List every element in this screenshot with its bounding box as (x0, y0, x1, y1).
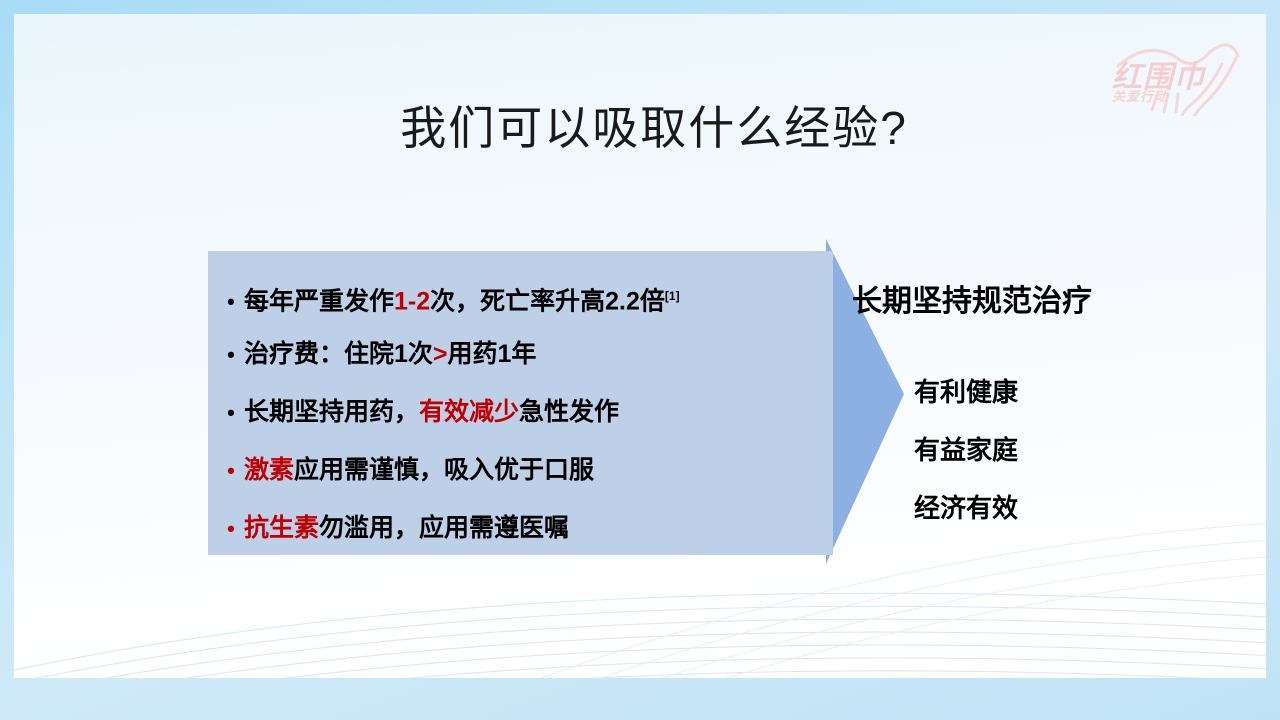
slide-canvas: 红围巾 关爱行动 我们可以吸取什么经验? •每年严重发作1-2次，死亡率升高2.… (14, 14, 1266, 678)
bullet-dot-icon: • (218, 442, 244, 500)
bullet-text: 激素应用需谨慎，吸入优于口服 (244, 441, 828, 499)
bullet-segment: 次，死亡率升高2.2倍 (430, 287, 665, 315)
slide-root: 红围巾 关爱行动 我们可以吸取什么经验? •每年严重发作1-2次，死亡率升高2.… (0, 0, 1280, 720)
conclusion-headline: 长期坚持规范治疗 (852, 276, 1092, 320)
bullet-text: 长期坚持用药，有效减少急性发作 (244, 383, 828, 441)
bullet-segment: 急性发作 (519, 398, 619, 426)
footnote-marker: [1] (665, 289, 680, 303)
conclusion-column: 长期坚持规范治疗 有利健康 有益家庭 经济有效 (852, 14, 1266, 678)
key-points-box: •每年严重发作1-2次，死亡率升高2.2倍[1]•治疗费：住院1次>用药1年•长… (208, 251, 833, 555)
bullet-segment: 每年严重发作 (244, 287, 394, 315)
bullet-item: •每年严重发作1-2次，死亡率升高2.2倍[1] (218, 267, 828, 325)
conclusion-item-1: 有益家庭 (914, 430, 1018, 467)
bullet-dot-icon: • (218, 273, 244, 331)
conclusion-item-0: 有利健康 (914, 372, 1018, 409)
bullet-segment: 应用需谨慎，吸入优于口服 (294, 456, 594, 484)
bullet-item: •长期坚持用药，有效减少急性发作 (218, 383, 828, 441)
bullet-dot-icon: • (218, 326, 244, 384)
bullet-segment: 勿滥用，应用需遵医嘱 (319, 514, 569, 542)
bullet-segment: 抗生素 (244, 514, 319, 542)
conclusion-item-2: 经济有效 (914, 488, 1018, 525)
bullet-text: 治疗费：住院1次>用药1年 (244, 325, 828, 383)
bullet-list: •每年严重发作1-2次，死亡率升高2.2倍[1]•治疗费：住院1次>用药1年•长… (218, 267, 828, 557)
bullet-segment: 激素 (244, 456, 294, 484)
bullet-text: 抗生素勿滥用，应用需遵医嘱 (244, 499, 828, 557)
bullet-segment: 1-2 (394, 287, 430, 315)
bullet-text: 每年严重发作1-2次，死亡率升高2.2倍[1] (244, 267, 828, 330)
bullet-item: •抗生素勿滥用，应用需遵医嘱 (218, 499, 828, 557)
bullet-dot-icon: • (218, 500, 244, 558)
bullet-item: •激素应用需谨慎，吸入优于口服 (218, 441, 828, 499)
bullet-segment: > (433, 340, 448, 368)
bullet-segment: 治疗费：住院1次 (244, 340, 433, 368)
bullet-item: •治疗费：住院1次>用药1年 (218, 325, 828, 383)
bullet-segment: 用药1年 (448, 340, 537, 368)
bullet-segment: 长期坚持用药， (244, 398, 419, 426)
bullet-dot-icon: • (218, 384, 244, 442)
bullet-segment: 有效减少 (419, 398, 519, 426)
